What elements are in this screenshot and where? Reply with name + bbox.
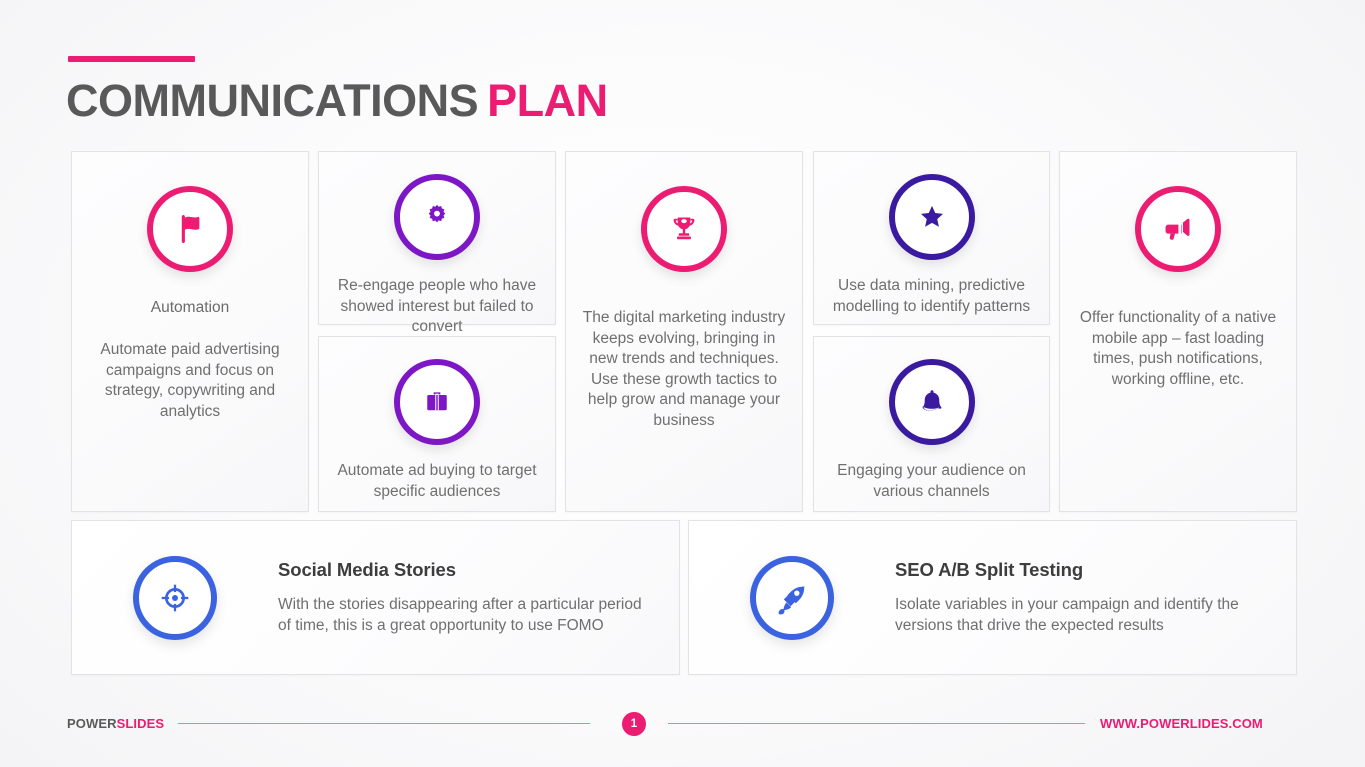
- footer-logo: POWERSLIDES: [67, 716, 164, 731]
- card-text: Automate paid advertising campaigns and …: [72, 340, 308, 422]
- card-text: Use data mining, predictive modelling to…: [814, 276, 1049, 317]
- card-social-media-stories[interactable]: Social Media Stories With the stories di…: [71, 520, 680, 675]
- wide-card-title: Social Media Stories: [278, 559, 649, 581]
- page-title-primary: COMMUNICATIONS: [66, 75, 478, 126]
- wide-card-text: With the stories disappearing after a pa…: [278, 595, 649, 636]
- slide: COMMUNICATIONSPLAN Automation Automate p…: [0, 0, 1365, 767]
- page-number-badge: 1: [622, 712, 646, 736]
- icon-circle-briefcase: [394, 359, 480, 445]
- card-re-engage[interactable]: Re-engage people who have showed interes…: [318, 151, 556, 325]
- icon-circle-crosshair: [133, 556, 217, 640]
- card-text: Automate ad buying to target specific au…: [319, 461, 555, 502]
- wide-card-title: SEO A/B Split Testing: [895, 559, 1266, 581]
- trophy-icon: [668, 213, 700, 245]
- icon-circle-star: [889, 174, 975, 260]
- card-ad-buying[interactable]: Automate ad buying to target specific au…: [318, 336, 556, 512]
- flag-icon: [173, 212, 207, 246]
- star-icon: [917, 202, 947, 232]
- icon-circle-flag: [147, 186, 233, 272]
- card-text: Re-engage people who have showed interes…: [319, 276, 555, 338]
- card-engaging-audience[interactable]: Engaging your audience on various channe…: [813, 336, 1050, 512]
- wide-card-text: Isolate variables in your campaign and i…: [895, 595, 1266, 636]
- icon-circle-megaphone: [1135, 186, 1221, 272]
- wide-icon-wrap: [689, 556, 895, 640]
- title-accent-rule: [68, 56, 195, 62]
- icon-circle-bell: [889, 359, 975, 445]
- card-text: The digital marketing industry keeps evo…: [566, 308, 802, 431]
- icon-circle-gear: [394, 174, 480, 260]
- footer-divider-left: [178, 723, 590, 724]
- bell-icon: [917, 387, 947, 417]
- footer-url: WWW.POWERLIDES.COM: [1100, 716, 1263, 731]
- page-title-accent: PLAN: [487, 75, 608, 126]
- card-heading: Automation: [72, 298, 308, 318]
- card-data-mining[interactable]: Use data mining, predictive modelling to…: [813, 151, 1050, 325]
- card-digital-marketing[interactable]: The digital marketing industry keeps evo…: [565, 151, 803, 512]
- card-native-app[interactable]: Offer functionality of a native mobile a…: [1059, 151, 1297, 512]
- icon-circle-trophy: [641, 186, 727, 272]
- card-text: Engaging your audience on various channe…: [814, 461, 1049, 502]
- footer-logo-accent: SLIDES: [117, 716, 165, 731]
- wide-card-body: Social Media Stories With the stories di…: [278, 559, 679, 636]
- wide-icon-wrap: [72, 556, 278, 640]
- footer-divider-right: [668, 723, 1085, 724]
- wide-card-body: SEO A/B Split Testing Isolate variables …: [895, 559, 1296, 636]
- rocket-icon: [775, 581, 809, 615]
- card-text: Offer functionality of a native mobile a…: [1060, 308, 1296, 390]
- briefcase-icon: [422, 387, 452, 417]
- crosshair-icon: [158, 581, 192, 615]
- page-title: COMMUNICATIONSPLAN: [66, 72, 608, 130]
- card-seo-ab-split-testing[interactable]: SEO A/B Split Testing Isolate variables …: [688, 520, 1297, 675]
- card-automation[interactable]: Automation Automate paid advertising cam…: [71, 151, 309, 512]
- megaphone-icon: [1161, 212, 1195, 246]
- icon-circle-rocket: [750, 556, 834, 640]
- gear-icon: [423, 203, 451, 231]
- footer-logo-primary: POWER: [67, 716, 117, 731]
